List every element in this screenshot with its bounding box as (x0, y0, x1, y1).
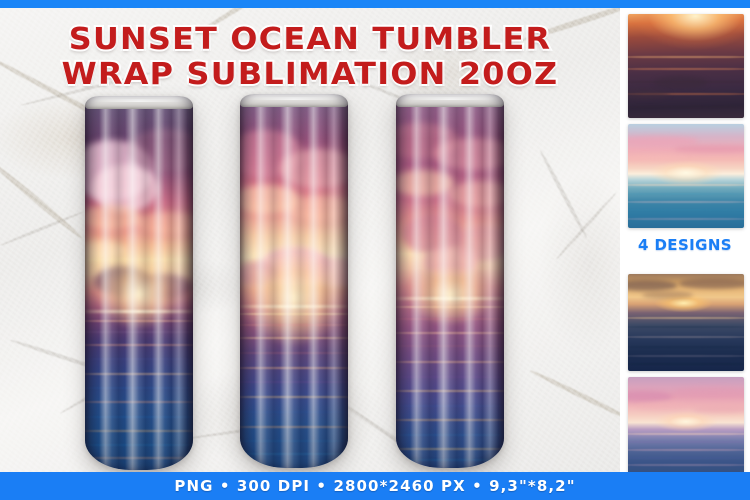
tumbler-lid (240, 94, 348, 107)
tumbler-lid (85, 96, 193, 109)
top-blue-border (0, 0, 750, 8)
thumbnail-golden-sunset-waves[interactable] (628, 274, 744, 371)
product-mockup-poster: SUNSET OCEAN TUMBLER WRAP SUBLIMATION 20… (0, 0, 750, 500)
thumbnail-lava-sunset-water[interactable] (628, 14, 744, 118)
thumbnail-pink-blue-ocean[interactable] (628, 124, 744, 228)
designs-sidebar: 4 DESIGNS (620, 8, 750, 472)
tumbler-artwork (396, 105, 504, 468)
tumbler-lid (396, 94, 504, 107)
designs-count-label: 4 DESIGNS (620, 236, 750, 254)
tumbler-artwork (240, 105, 348, 468)
tumbler-mockup-2[interactable] (240, 94, 348, 468)
marble-background-stage: SUNSET OCEAN TUMBLER WRAP SUBLIMATION 20… (0, 8, 620, 472)
thumbnail-artwork (628, 14, 744, 118)
tumbler-mockup-3[interactable] (396, 94, 504, 468)
spec-banner: PNG • 300 DPI • 2800*2460 PX • 9,3"*8,2" (0, 472, 750, 500)
thumbnail-magenta-sunset-sea[interactable] (628, 377, 744, 474)
tumbler-mockup-1[interactable] (85, 96, 193, 470)
spec-banner-text: PNG • 300 DPI • 2800*2460 PX • 9,3"*8,2" (174, 477, 575, 495)
tumbler-artwork (85, 107, 193, 470)
